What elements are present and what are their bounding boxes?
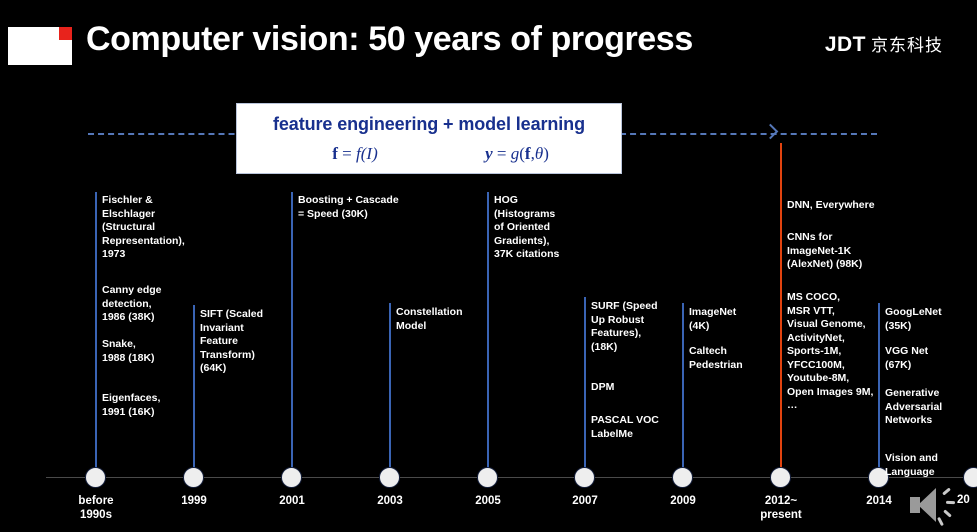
timeline-event-cnns-imagenet-1k: CNNs for ImageNet-1K (AlexNet) (98K) bbox=[787, 231, 897, 272]
timeline-node bbox=[85, 467, 106, 488]
timeline-node bbox=[672, 467, 693, 488]
timeline-tick-label: 2001 bbox=[247, 494, 337, 508]
timeline-node bbox=[281, 467, 302, 488]
arrowhead-icon bbox=[765, 126, 779, 140]
speaker-wave-1 bbox=[942, 487, 951, 495]
timeline-event-dnn-everywhere: DNN, Everywhere bbox=[787, 199, 897, 213]
timeline-tick-label: 2003 bbox=[345, 494, 435, 508]
speaker-cone bbox=[918, 488, 936, 522]
speaker-wave-2 bbox=[946, 501, 955, 504]
feature-formula: f = f(I) bbox=[265, 144, 445, 164]
timeline-tick-label: 2009 bbox=[638, 494, 728, 508]
timeline-event-canny-edge: Canny edge detection, 1986 (38K) bbox=[102, 284, 212, 325]
timeline-node bbox=[574, 467, 595, 488]
timeline-tick-label: 2005 bbox=[443, 494, 533, 508]
timeline-event-sift: SIFT (Scaled Invariant Feature Transform… bbox=[200, 308, 304, 376]
formula-box-title: feature engineering + model learning bbox=[237, 114, 621, 135]
timeline-event-caltech-pedestrian: Caltech Pedestrian bbox=[689, 345, 793, 372]
timeline-event-pascal-voc-labelme: PASCAL VOC LabelMe bbox=[591, 414, 695, 441]
timeline-event-hog: HOG (Histograms of Oriented Gradients), … bbox=[494, 194, 598, 262]
timeline-event-constellation-model: Constellation Model bbox=[396, 306, 500, 333]
jd-brand-logo: JDT京东科技 bbox=[825, 31, 943, 57]
timeline-connector-line bbox=[389, 303, 391, 470]
timeline-connector-line bbox=[193, 305, 195, 470]
timeline-tick-label: 2007 bbox=[540, 494, 630, 508]
timeline-event-datasets-list: MS COCO, MSR VTT, Visual Genome, Activit… bbox=[787, 291, 897, 413]
timeline-event-gan: Generative Adversarial Networks bbox=[885, 387, 977, 428]
timeline-event-fischler-elschlager: Fischler & Elschlager (Structural Repres… bbox=[102, 194, 212, 262]
timeline-connector-line bbox=[584, 297, 586, 470]
timeline-tick-label: 1999 bbox=[149, 494, 239, 508]
page-title: Computer vision: 50 years of progress bbox=[86, 20, 693, 59]
brand-chinese-text: 京东科技 bbox=[871, 36, 943, 55]
brand-latin-text: JDT bbox=[825, 33, 866, 56]
speaker-wave-3 bbox=[943, 509, 952, 517]
formula-callout-box: feature engineering + model learning f =… bbox=[236, 103, 622, 174]
timeline-tick-label: before 1990s bbox=[51, 494, 141, 522]
timeline-event-imagenet: ImageNet (4K) bbox=[689, 306, 793, 333]
timeline-node bbox=[477, 467, 498, 488]
model-formula: y = g(f,θ) bbox=[427, 144, 607, 164]
timeline-node bbox=[379, 467, 400, 488]
timeline-event-dpm: DPM bbox=[591, 381, 695, 395]
timeline-event-surf: SURF (Speed Up Robust Features), (18K) bbox=[591, 300, 695, 354]
timeline-event-snake: Snake, 1988 (18K) bbox=[102, 338, 212, 365]
timeline-event-eigenfaces: Eigenfaces, 1991 (16K) bbox=[102, 392, 212, 419]
slide-canvas: Computer vision: 50 years of progress JD… bbox=[0, 0, 977, 532]
timeline-node bbox=[183, 467, 204, 488]
brand-red-square-icon bbox=[59, 27, 72, 40]
timeline-connector-line bbox=[95, 192, 97, 470]
timeline-event-boosting-cascade: Boosting + Cascade = Speed (30K) bbox=[298, 194, 428, 221]
timeline-event-vgg-net: VGG Net (67K) bbox=[885, 345, 977, 372]
timeline-tick-label: 2012~ present bbox=[736, 494, 826, 522]
speaker-icon[interactable] bbox=[908, 484, 968, 530]
timeline-event-googlenet: GoogLeNet (35K) bbox=[885, 306, 977, 333]
timeline-node bbox=[770, 467, 791, 488]
speaker-wave-4 bbox=[937, 517, 944, 526]
